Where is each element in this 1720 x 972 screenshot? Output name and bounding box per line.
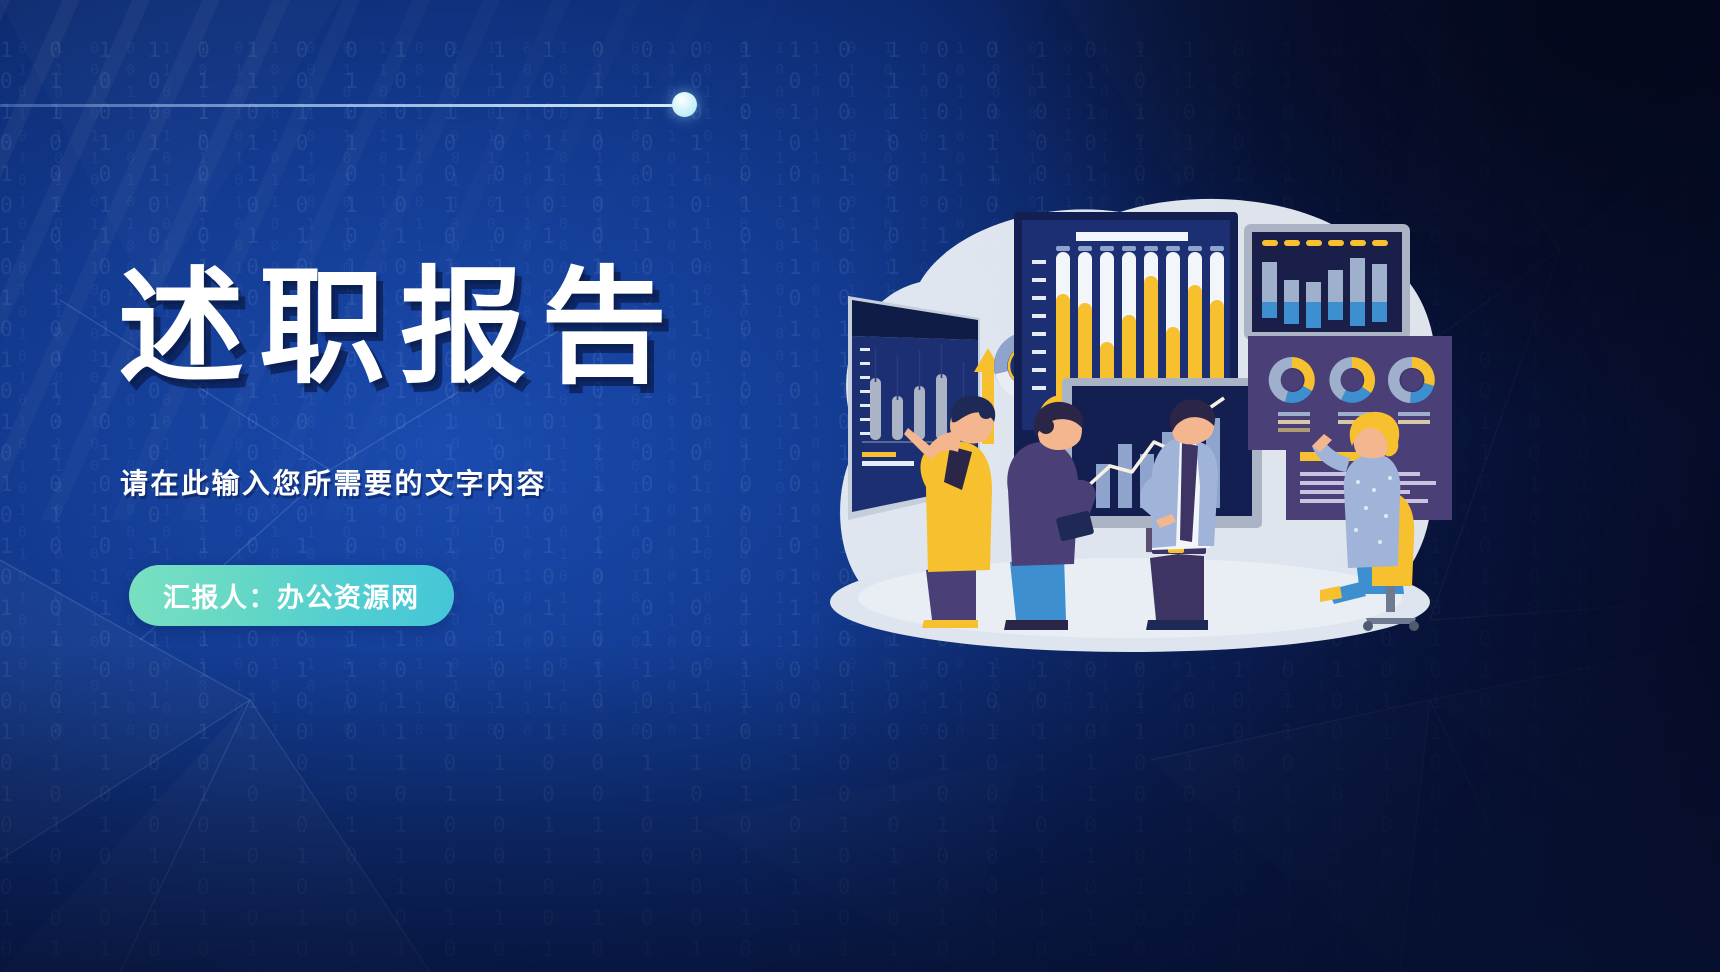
right-tablet — [1244, 224, 1410, 340]
page-subtitle: 请在此输入您所需要的文字内容 — [120, 462, 547, 502]
purple-panel-donut-3 — [1388, 357, 1435, 403]
accent-dot — [672, 92, 697, 117]
center-screen-title-bar — [1076, 232, 1188, 241]
purple-panel-donut-1 — [1269, 357, 1315, 403]
business-analytics-team-illustration — [800, 190, 1460, 680]
purple-panel-donut-2 — [1329, 357, 1375, 403]
horizontal-accent-line — [0, 104, 690, 107]
background-bottom-shade — [0, 642, 1720, 972]
page-title: 述职报告 — [118, 262, 682, 394]
presentation-slide: 1 0 1 1 0 1 0 0 1 0 1 1 0 0 0 1 1 0 1 0 … — [0, 0, 1720, 972]
presenter-badge: 汇报人：办公资源网 — [129, 565, 454, 626]
